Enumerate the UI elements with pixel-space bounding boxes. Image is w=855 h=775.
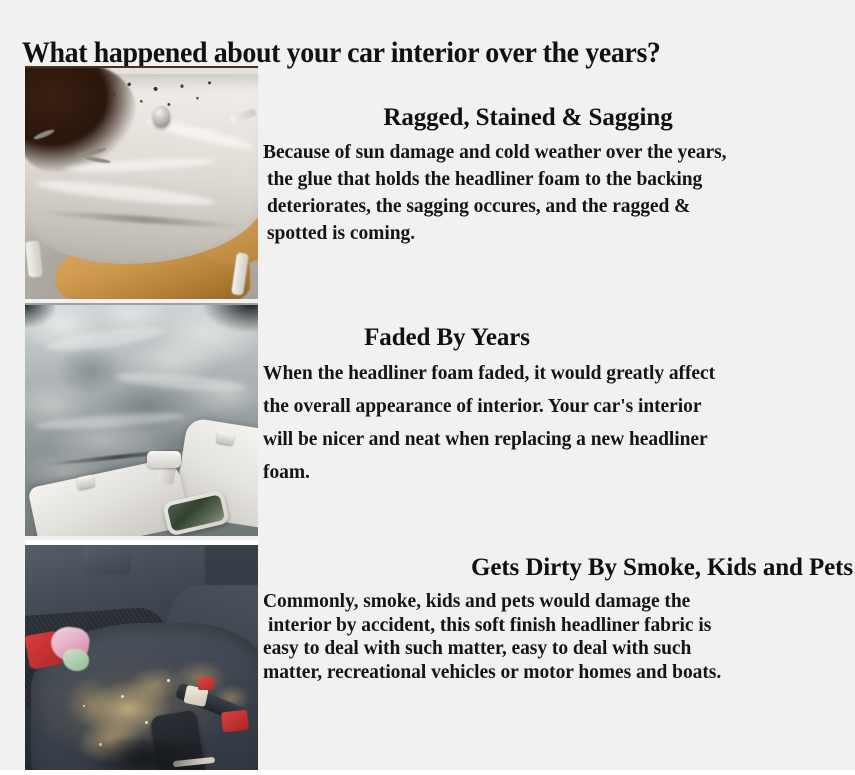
photo-ragged-headliner-art <box>25 68 258 299</box>
bottom-white-strip <box>0 770 855 775</box>
section-ragged-line-2: the glue that holds the headliner foam t… <box>263 166 843 193</box>
mirror-mount <box>147 451 181 468</box>
section-dirty-line-2: interior by accident, this soft finish h… <box>263 614 843 638</box>
crumb-speck-4 <box>167 679 170 682</box>
section-ragged: Ragged, Stained & Sagging Because of sun… <box>263 103 843 247</box>
section-faded-line-4: foam. <box>263 456 843 489</box>
section-dirty-heading: Gets Dirty By Smoke, Kids and Pets <box>255 553 855 583</box>
crumb-speck-2 <box>145 721 148 724</box>
section-ragged-heading: Ragged, Stained & Sagging <box>263 103 793 133</box>
photo-faded-headliner-art <box>25 305 258 536</box>
section-dirty-body: Commonly, smoke, kids and pets would dam… <box>263 590 843 684</box>
section-ragged-line-3: deteriorates, the sagging occures, and t… <box>263 193 843 220</box>
infographic-page: What happened about your car interior ov… <box>0 0 855 770</box>
section-dirty: Gets Dirty By Smoke, Kids and Pets Commo… <box>263 553 843 684</box>
photo-dirty-seat-art <box>25 545 258 775</box>
photo-dirty-seat <box>25 540 258 775</box>
crumb-speck-1 <box>121 695 124 698</box>
photo-faded-headliner <box>25 303 258 536</box>
green-wrapper <box>63 649 89 671</box>
page-title: What happened about your car interior ov… <box>22 36 775 70</box>
section-faded-heading: Faded By Years <box>263 323 631 353</box>
dark-corner-shadow-inner <box>25 68 97 130</box>
stain-specks <box>105 76 215 122</box>
windshield-edge-shadow <box>204 303 258 331</box>
red-wrapper-mid <box>198 677 214 690</box>
section-ragged-line-4: spotted is coming. <box>263 220 843 247</box>
section-dirty-line-4: matter, recreational vehicles or motor h… <box>263 661 843 685</box>
headrest <box>83 540 131 575</box>
section-dirty-line-1: Commonly, smoke, kids and pets would dam… <box>263 590 843 614</box>
red-wrapper-right <box>221 710 249 733</box>
section-dirty-line-3: easy to deal with such matter, easy to d… <box>263 637 843 661</box>
photo-ragged-headliner <box>25 66 258 299</box>
section-faded-body: When the headliner foam faded, it would … <box>263 357 843 489</box>
section-faded: Faded By Years When the headliner foam f… <box>263 323 843 489</box>
section-ragged-line-1: Because of sun damage and cold weather o… <box>263 139 843 166</box>
crumb-speck-5 <box>83 705 85 707</box>
section-faded-line-1: When the headliner foam faded, it would … <box>263 357 843 390</box>
section-ragged-body: Because of sun damage and cold weather o… <box>263 139 843 247</box>
section-faded-line-3: will be nicer and neat when replacing a … <box>263 423 843 456</box>
pillar-shadow-left <box>25 303 55 327</box>
section-faded-line-2: the overall appearance of interior. Your… <box>263 390 843 423</box>
